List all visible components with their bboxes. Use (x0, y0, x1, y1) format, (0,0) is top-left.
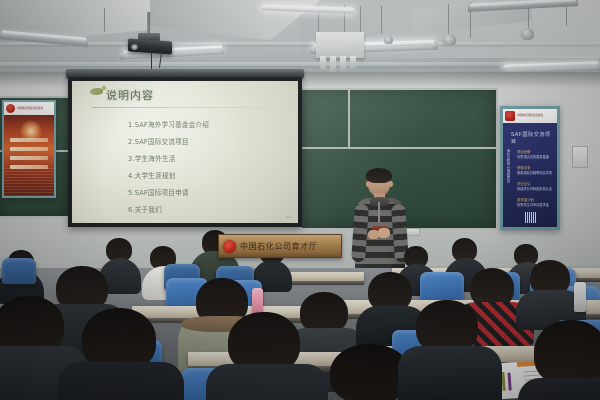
poster-left-body (4, 115, 54, 196)
slide-item: 4.大学生涯规划 (128, 170, 209, 180)
slide-item: 2.SAF国际交流项目 (128, 136, 209, 146)
poster-block: 院校众多 美英澳加日韩等知名学府 (517, 165, 553, 175)
poster-right-side-text: 海外名校学分课程项目 (506, 149, 510, 215)
projector-lens-icon (131, 44, 138, 50)
poster-left-header: 中国教育国际交流协会 (4, 102, 54, 115)
poster-block-text: 就读学分可转回本校认定 (517, 186, 553, 191)
ceiling (0, 0, 600, 80)
presenter-zipper (378, 202, 380, 222)
organization-logo-icon (6, 104, 15, 113)
slide-item: 1.SAF海外学习基金会介绍 (128, 119, 209, 129)
slide-item: 5.SAF国际项目申请 (128, 187, 209, 197)
poster-right-blocks: 项目优势 世界顶尖名校直录直通 院校众多 美英澳加日韩等知名学府 学分互认 就读… (517, 149, 553, 213)
slide-footer: SAF (286, 215, 292, 219)
slide-divider (92, 107, 282, 108)
slide-item: 6.关于我们 (128, 204, 209, 214)
ceiling-speaker-icon (521, 28, 534, 40)
poster-block-text: 世界顶尖名校直录直通 (517, 154, 553, 159)
poster-block-text: 优秀学生可申请奖学金 (517, 202, 553, 207)
water-reflection (4, 168, 54, 196)
poster-block: 学分互认 就读学分可转回本校认定 (517, 181, 553, 191)
qr-code-icon (525, 212, 536, 223)
slide-item: 3.学生海外生活 (128, 153, 209, 163)
presenter-ear (389, 181, 393, 187)
seat[interactable] (2, 258, 36, 284)
chalkboard-divider (300, 147, 498, 149)
pendant-light-bundle (316, 32, 364, 58)
projection-screen: 说明内容 1.SAF海外学习基金会介绍 2.SAF国际交流项目 3.学生海外生活… (68, 77, 302, 227)
ceiling-speaker-icon (384, 36, 393, 44)
seat[interactable] (420, 272, 464, 300)
white-water-bottle (574, 282, 586, 312)
national-emblem-icon (223, 240, 236, 253)
projector-mount-rod (147, 12, 150, 34)
poster-block: 奖学金计划 优秀学生可申请奖学金 (517, 197, 553, 207)
presenter-hair (366, 168, 392, 183)
presenter-ear (366, 181, 370, 187)
slide-logo-icon (90, 88, 103, 95)
plaque-text: 中国石化公司育才厅 (240, 241, 317, 252)
poster-block-text: 美英澳加日韩等知名学府 (517, 170, 553, 175)
poster-left-logo-text: 中国教育国际交流协会 (17, 107, 43, 110)
organization-logo-icon (505, 111, 515, 121)
room-plaque: 中国石化公司育才厅 (218, 234, 342, 258)
slide-agenda-list: 1.SAF海外学习基金会介绍 2.SAF国际交流项目 3.学生海外生活 4.大学… (128, 119, 209, 221)
slide-surface: 说明内容 1.SAF海外学习基金会介绍 2.SAF国际交流项目 3.学生海外生活… (72, 81, 298, 223)
ceiling-speaker-icon (443, 34, 456, 46)
lecture-hall-photo: 说明内容 1.SAF海外学习基金会介绍 2.SAF国际交流项目 3.学生海外生活… (0, 0, 600, 400)
poster-right-heading: SAF国际交流项目 (511, 131, 553, 145)
poster-right-header: 中国教育国际交流协会 (503, 109, 557, 123)
poster-left-line (10, 138, 48, 142)
poster-left-line (10, 156, 48, 160)
slide-title: 说明内容 (106, 87, 154, 103)
poster-left: 中国教育国际交流协会 (2, 100, 56, 198)
poster-block: 项目优势 世界顶尖名校直录直通 (517, 149, 553, 159)
wall-control-panel (572, 146, 588, 168)
poster-right: 中国教育国际交流协会 SAF国际交流项目 海外名校学分课程项目 项目优势 世界顶… (500, 106, 560, 230)
poster-right-logo-text: 中国教育国际交流协会 (517, 114, 543, 117)
poster-right-body: SAF国际交流项目 海外名校学分课程项目 项目优势 世界顶尖名校直录直通 院校众… (503, 123, 557, 227)
presenter-hand-right (378, 228, 390, 238)
poster-left-line (10, 147, 48, 151)
